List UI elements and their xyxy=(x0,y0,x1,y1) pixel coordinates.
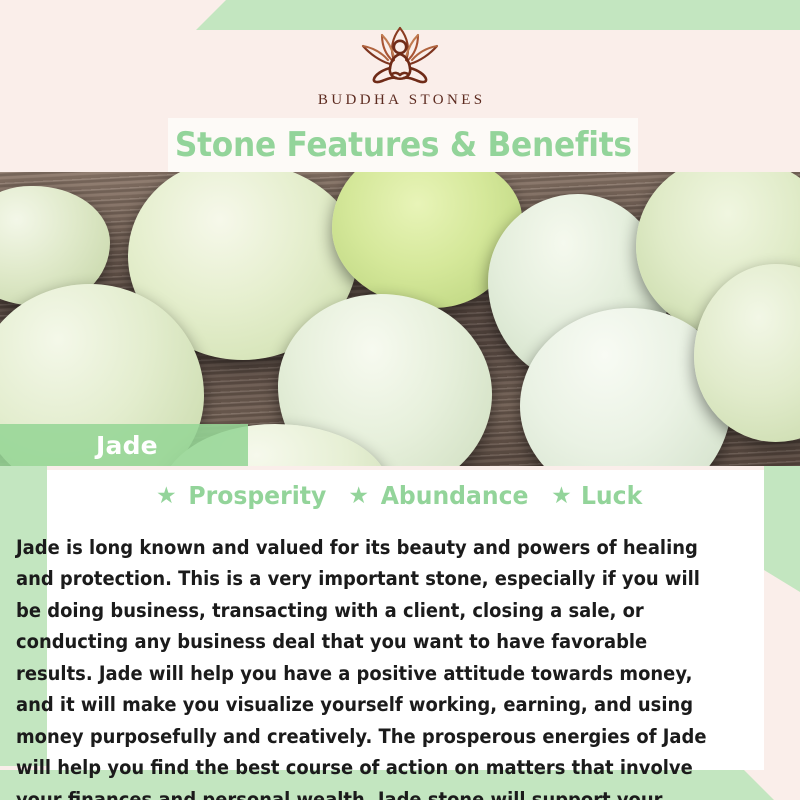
benefits-row: ★ Prosperity ★ Abundance ★ Luck xyxy=(0,478,800,512)
brand-wordmark: BUDDHA STONES xyxy=(0,92,800,109)
infographic-page: BUDDHA STONES Stone Features & Benefits … xyxy=(0,0,800,800)
stone-name-label: Jade xyxy=(96,431,158,460)
benefit-label: Luck xyxy=(581,481,642,510)
title-banner: Stone Features & Benefits xyxy=(168,118,638,172)
product-photo xyxy=(0,172,800,466)
page-title: Stone Features & Benefits xyxy=(175,125,632,165)
benefit-item: ★ Luck xyxy=(551,481,644,510)
description-text: Jade is long known and valued for its be… xyxy=(16,532,726,800)
benefit-item: ★ Prosperity xyxy=(156,481,330,510)
photo-caption-band: Jade xyxy=(0,424,248,466)
star-icon: ★ xyxy=(348,484,369,507)
benefit-label: Abundance xyxy=(381,481,529,510)
lotus-meditation-icon xyxy=(330,22,470,88)
benefit-item: ★ Abundance xyxy=(348,481,533,510)
brand-logo: BUDDHA STONES xyxy=(0,22,800,109)
star-icon: ★ xyxy=(551,484,572,507)
benefit-label: Prosperity xyxy=(188,481,326,510)
star-icon: ★ xyxy=(156,484,177,507)
